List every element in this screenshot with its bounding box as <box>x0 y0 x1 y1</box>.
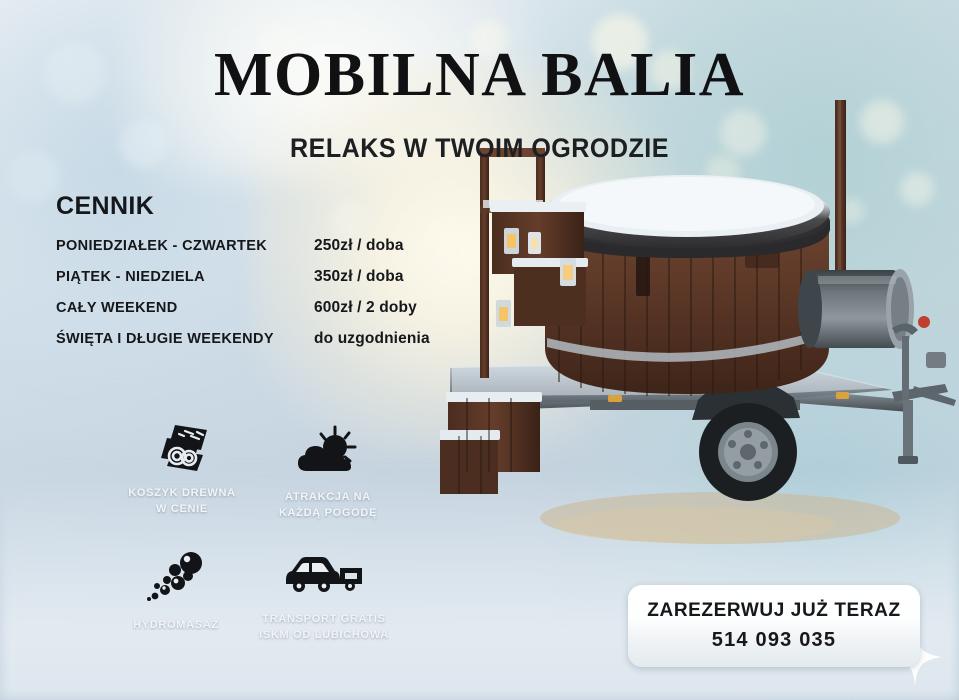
price-value: do uzgodnienia <box>314 330 430 348</box>
car-with-trailer-icon <box>244 544 404 604</box>
price-label: PIĄTEK - NIEDZIELA <box>56 269 314 285</box>
price-label: PONIEDZIAŁEK - CZWARTEK <box>56 238 314 254</box>
poster-title: MOBILNA BALIA <box>0 44 959 106</box>
price-row: ŚWIĘTA I DŁUGIE WEEKENDY do uzgodnienia <box>56 330 456 348</box>
feature-item: TRANSPORT GRATIS ISKM OD LUBICHOWA <box>244 544 404 644</box>
feature-label: HYDROMASAŻ <box>96 618 256 634</box>
trailer-wheel <box>692 378 800 501</box>
price-row: PONIEDZIAŁEK - CZWARTEK 250zł / doba <box>56 237 456 255</box>
lantern <box>560 258 576 286</box>
feature-label: TRANSPORT GRATIS ISKM OD LUBICHOWA <box>244 612 404 644</box>
price-label: CAŁY WEEKEND <box>56 300 314 316</box>
sun-behind-cloud-icon <box>248 422 408 482</box>
price-row: PIĄTEK - NIEDZIELA 350zł / doba <box>56 268 456 286</box>
price-value: 600zł / 2 doby <box>314 299 417 317</box>
price-label: ŚWIĘTA I DŁUGIE WEEKENDY <box>56 331 314 347</box>
feature-label: KOSZYK DREWNA W CENIE <box>102 486 262 518</box>
firewood-logs-icon <box>102 418 262 478</box>
feature-item: HYDROMASAŻ <box>96 550 256 634</box>
bubbles-icon <box>96 550 256 610</box>
feature-item: KOSZYK DREWNA W CENIE <box>102 418 262 518</box>
feature-label: ATRAKCJA NA KAŻDĄ POGODĘ <box>248 490 408 522</box>
cta-title: ZAREZERWUJ JUŻ TERAZ <box>647 600 900 622</box>
wooden-steps <box>440 392 542 494</box>
pricing-heading: CENNIK <box>56 192 456 221</box>
pricing-section: CENNIK PONIEDZIAŁEK - CZWARTEK 250zł / d… <box>56 192 456 361</box>
product-photo-hot-tub-trailer <box>440 100 959 600</box>
price-row: CAŁY WEEKEND 600zł / 2 doby <box>56 299 456 317</box>
price-value: 350zł / doba <box>314 268 404 286</box>
hot-tub-illustration <box>440 100 959 600</box>
cta-phone-number[interactable]: 514 093 035 <box>712 629 836 652</box>
tub-lid <box>544 175 830 258</box>
feature-item: ATRAKCJA NA KAŻDĄ POGODĘ <box>248 422 408 522</box>
price-value: 250zł / doba <box>314 237 404 255</box>
lantern <box>496 300 511 327</box>
poster-canvas: MOBILNA BALIA RELAKS W TWOIM OGRODZIE CE… <box>0 0 959 700</box>
poster-subtitle: RELAKS W TWOIM OGRODZIE <box>34 133 926 164</box>
cta-reserve-badge[interactable]: ZAREZERWUJ JUŻ TERAZ 514 093 035 <box>628 585 920 667</box>
boiler-stove <box>798 269 914 349</box>
